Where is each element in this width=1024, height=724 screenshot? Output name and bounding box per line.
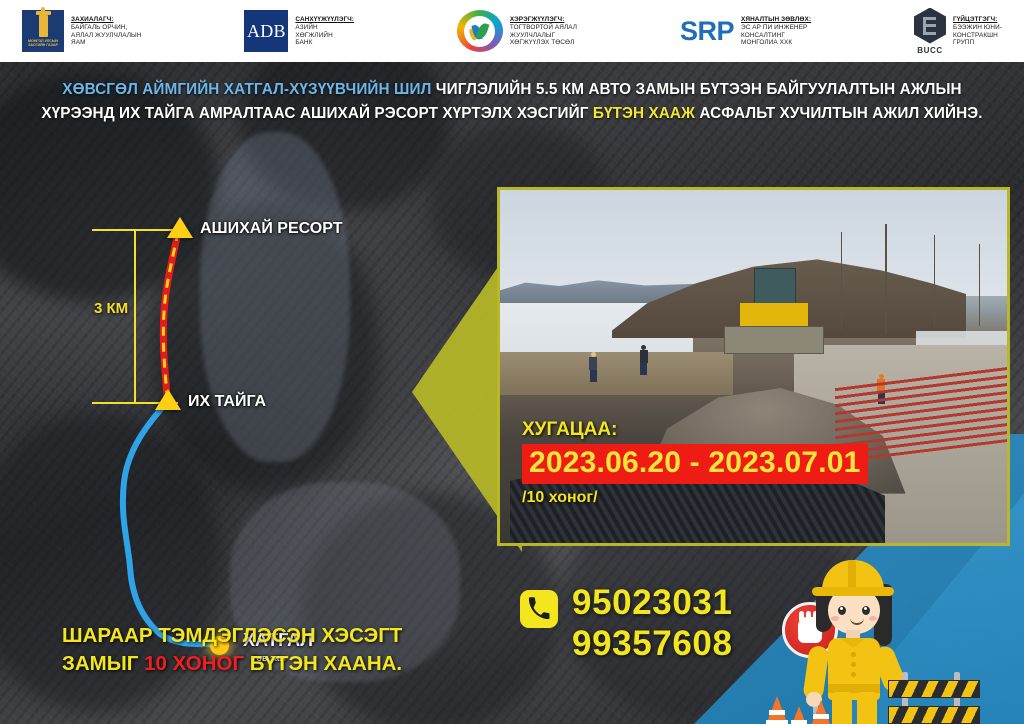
map-label-distance: 3 КМ <box>94 300 128 317</box>
worker-hard-hat-ridge <box>848 560 856 590</box>
logo-text-financier: САНХҮҮЖҮҮЛЭГЧ: АЗИЙН ХӨГЖЛИЙН БАНК <box>295 16 354 46</box>
logo-block-implementer: ХЭРЭГЖҮҮЛЭГЧ: ТОГТВОРТОЙ АЯЛАЛ ЖУУЛЧЛАЛЫ… <box>457 10 577 52</box>
logo-line: МОНГОЛИА ХХК <box>741 39 811 46</box>
logo-role-implementer: ХЭРЭГЖҮҮЛЭГЧ: <box>510 16 577 23</box>
sponsor-logo-bar: МОНГОЛ УЛСЫН ЗАСГИЙН ГАЗАР ЗАХИАЛАГЧ: БА… <box>0 0 1024 62</box>
photo-shoreline <box>500 352 733 394</box>
logo-role-contractor: ГҮЙЦЭТГЭГЧ: <box>953 16 1002 23</box>
logo-block-supervisor: SRP ХЯНАЛТЫН ЗӨВЛӨХ: ЭС АР ПИ ИНЖЕНЕР КО… <box>680 16 811 47</box>
logo-line: ЯАМ <box>71 39 142 46</box>
photo-worker <box>586 352 600 384</box>
title-line-1-rest: ЧИГЛЭЛИЙН 5.5 КМ АВТО ЗАМЫН БҮТЭЭН БАЙГУ… <box>431 81 961 98</box>
logo-text-supervisor: ХЯНАЛТЫН ЗӨВЛӨХ: ЭС АР ПИ ИНЖЕНЕР КОНСАЛ… <box>741 16 811 46</box>
logo-line: АЗИЙН <box>295 24 354 31</box>
worker-eye-left <box>838 606 846 615</box>
emblem-caption: МОНГОЛ УЛСЫН ЗАСГИЙН ГАЗАР <box>22 39 64 48</box>
title-line-2-pre: ХҮРЭЭНД ИХ ТАЙГА АМРАЛТААС АШИХАЙ РЭСОРТ… <box>41 105 592 122</box>
schedule-block: ХУГАЦАА: 2023.06.20 - 2023.07.01 /10 хон… <box>522 418 868 509</box>
logo-line: ХӨГЖҮҮЛЭХ ТӨСӨЛ <box>510 39 577 46</box>
construction-photo-panel: ХУГАЦАА: 2023.06.20 - 2023.07.01 /10 хон… <box>497 187 1010 546</box>
logo-line: ЖУУЛЧЛАЛЫГ <box>510 32 577 39</box>
logo-line: АЯЛАЛ ЖУУЛЧЛАЛЫН <box>71 32 142 39</box>
title-line-1: ХӨВСГӨЛ АЙМГИЙН ХАТГАЛ-ХҮЗҮҮВЧИЙН ШИЛ ЧИ… <box>18 78 1006 102</box>
logo-text-implementer: ХЭРЭГЖҮҮЛЭГЧ: ТОГТВОРТОЙ АЯЛАЛ ЖУУЛЧЛАЛЫ… <box>510 16 577 46</box>
phone-number-1[interactable]: 95023031 <box>572 582 733 623</box>
map-marker-ikh-taiga-icon <box>155 389 181 410</box>
logo-line: БАЙГАЛЬ ОРЧИН, <box>71 24 142 31</box>
worker-cheek-left <box>831 616 839 621</box>
road-barrier <box>888 672 980 724</box>
logo-line: ТОГТВОРТОЙ АЯЛАЛ <box>510 24 577 31</box>
open-route-blue <box>123 402 215 644</box>
title-highlight-route: ХӨВСГӨЛ АЙМГИЙН ХАТГАЛ-ХҮЗҮҮВЧИЙН ШИЛ <box>62 81 431 98</box>
construction-worker-illustration <box>770 554 960 724</box>
photo-bulldozer <box>733 268 814 360</box>
schedule-date-range: 2023.06.20 - 2023.07.01 <box>522 444 868 484</box>
worker-leg-left <box>832 692 852 724</box>
contact-block: 95023031 99357608 <box>520 582 733 664</box>
logo-text-client: ЗАХИАЛАГЧ: БАЙГАЛЬ ОРЧИН, АЯЛАЛ ЖУУЛЧЛАЛ… <box>71 16 142 46</box>
closure-note-highlight: 10 ХОНОГ <box>144 652 244 675</box>
logo-line: ГРУПП <box>953 39 1002 46</box>
srp-wordmark-logo-icon: SRP <box>680 16 734 47</box>
poster-title: ХӨВСГӨЛ АЙМГИЙН ХАТГАЛ-ХҮЗҮҮВЧИЙН ШИЛ ЧИ… <box>0 78 1024 126</box>
closure-note-post: БҮТЭН ХААНА. <box>244 652 402 675</box>
logo-role-financier: САНХҮҮЖҮҮЛЭГЧ: <box>295 16 354 23</box>
worker-button <box>851 662 856 667</box>
worker-cheek-right <box>869 616 877 621</box>
map-label-ikh-taiga: ИХ ТАЙГА <box>188 393 266 411</box>
logo-block-client: МОНГОЛ УЛСЫН ЗАСГИЙН ГАЗАР ЗАХИАЛАГЧ: БА… <box>22 10 142 52</box>
logo-line: БАНК <box>295 39 354 46</box>
closed-route-red-base <box>163 232 178 397</box>
schedule-caption: ХУГАЦАА: <box>522 418 868 442</box>
logo-role-supervisor: ХЯНАЛТЫН ЗӨВЛӨХ: <box>741 16 811 23</box>
logo-line: БЭЭЖИН ЮНИ- <box>953 24 1002 31</box>
worker-eye-right <box>862 606 870 615</box>
worker-button <box>851 652 856 657</box>
logo-line: КОНСТРАКШН <box>953 32 1002 39</box>
phone-numbers: 95023031 99357608 <box>572 582 733 664</box>
map-marker-resort-icon <box>167 217 193 238</box>
closure-note: ШАРААР ТЭМДЭГЛЭСЭН ХЭСЭГТ ЗАМЫГ 10 ХОНОГ… <box>62 622 482 678</box>
logo-line: КОНСАЛТИНГ <box>741 32 811 39</box>
logo-line: ХӨГЖЛИЙН <box>295 32 354 39</box>
worker-leg-right <box>857 692 877 724</box>
phone-number-2[interactable]: 99357608 <box>572 623 733 664</box>
photo-power-poles <box>804 218 1007 359</box>
phone-icon <box>520 590 558 628</box>
map-label-resort: АШИХАЙ РЕСОРТ <box>200 220 342 238</box>
title-line-2-post: АСФАЛЬТ ХУЧИЛТЫН АЖИЛ ХИЙНЭ. <box>695 105 983 122</box>
logo-text-contractor: ГҮЙЦЭТГЭГЧ: БЭЭЖИН ЮНИ- КОНСТРАКШН ГРУПП <box>953 16 1002 46</box>
worker-button <box>851 672 856 677</box>
closure-note-line-2: ЗАМЫГ 10 ХОНОГ БҮТЭН ХААНА. <box>62 650 482 678</box>
bucc-hexagon-logo-icon: BUCC <box>914 8 946 55</box>
schedule-duration: /10 хоног/ <box>522 487 868 509</box>
mongolia-government-emblem-icon: МОНГОЛ УЛСЫН ЗАСГИЙН ГАЗАР <box>22 10 64 52</box>
poster-body-satellite-background: ХӨВСГӨЛ АЙМГИЙН ХАТГАЛ-ХҮЗҮҮВЧИЙН ШИЛ ЧИ… <box>0 62 1024 724</box>
closure-note-pre: ЗАМЫГ <box>62 652 144 675</box>
logo-block-contractor: BUCC ГҮЙЦЭТГЭГЧ: БЭЭЖИН ЮНИ- КОНСТРАКШН … <box>914 8 1002 55</box>
adb-logo-icon: ADB <box>244 10 288 52</box>
title-line-2: ХҮРЭЭНД ИХ ТАЙГА АМРАЛТААС АШИХАЙ РЭСОРТ… <box>18 102 1006 126</box>
srp-wordmark: SRP <box>680 16 734 47</box>
title-highlight-closure: БҮТЭН ХААЖ <box>593 105 695 122</box>
closure-note-line-1: ШАРААР ТЭМДЭГЛЭСЭН ХЭСЭГТ <box>62 622 482 650</box>
photo-worker <box>637 345 651 377</box>
poster-root: МОНГОЛ УЛСЫН ЗАСГИЙН ГАЗАР ЗАХИАЛАГЧ: БА… <box>0 0 1024 724</box>
srp-leaf-circle-logo-icon <box>457 10 503 52</box>
bucc-wordmark: BUCC <box>917 46 943 55</box>
logo-role-client: ЗАХИАЛАГЧ: <box>71 16 142 23</box>
logo-line: ЭС АР ПИ ИНЖЕНЕР <box>741 24 811 31</box>
logo-block-financier: ADB САНХҮҮЖҮҮЛЭГЧ: АЗИЙН ХӨГЖЛИЙН БАНК <box>244 10 354 52</box>
traffic-cone <box>808 700 834 724</box>
worker-hard-hat-brim <box>812 587 894 596</box>
adb-wordmark: ADB <box>244 10 288 52</box>
